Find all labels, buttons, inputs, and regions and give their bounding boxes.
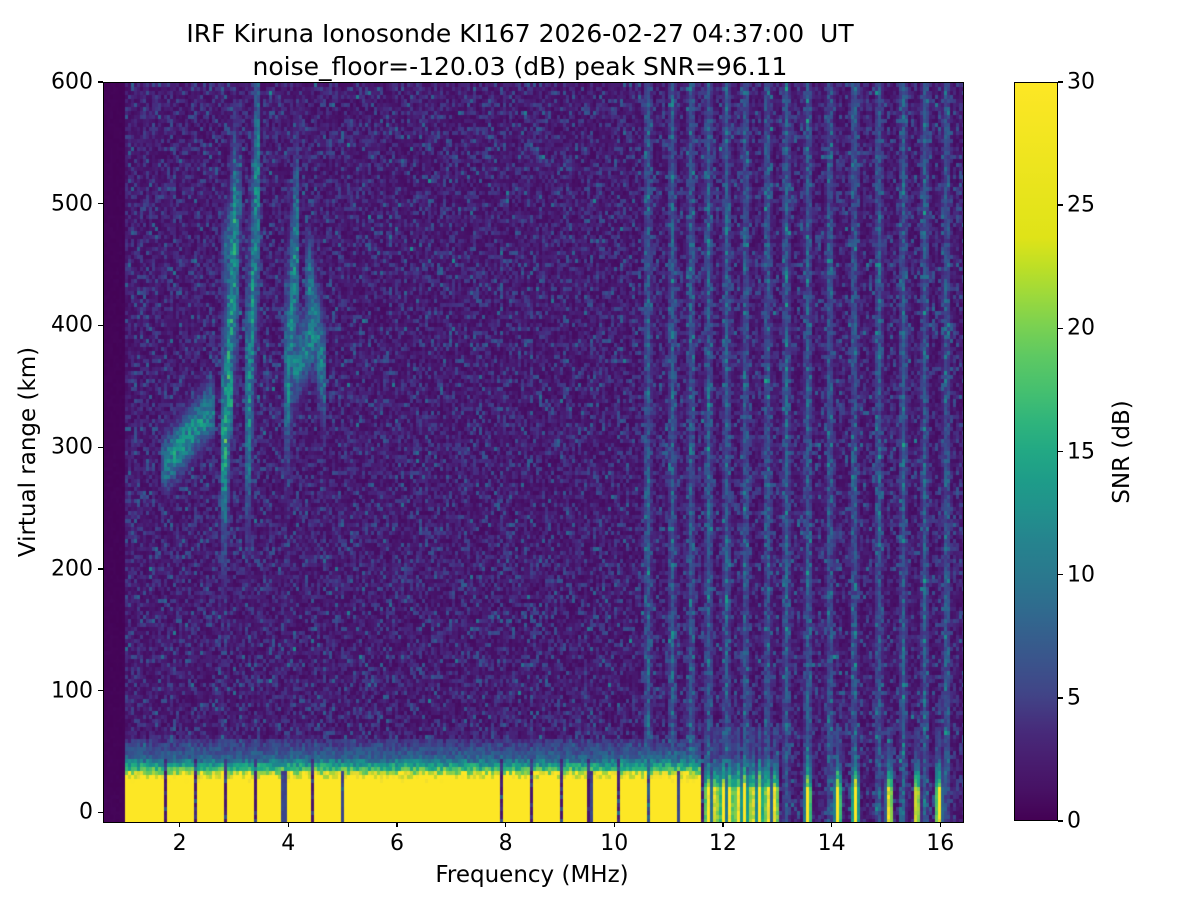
colorbar-tick-label: 15 (1067, 439, 1095, 464)
x-tick-label: 12 (709, 831, 737, 856)
y-tick-mark (98, 690, 103, 691)
colorbar-tick-label: 5 (1067, 685, 1081, 710)
x-tick-mark (614, 822, 615, 827)
title-line-2: noise_floor=-120.03 (dB) peak SNR=96.11 (0, 51, 1040, 84)
title-line-1: IRF Kiruna Ionosonde KI167 2026-02-27 04… (0, 18, 1040, 51)
x-tick-mark (831, 822, 832, 827)
y-tick-label: 400 (30, 313, 93, 338)
y-tick-mark (98, 447, 103, 448)
colorbar-tick-mark (1058, 574, 1063, 575)
ionogram-heatmap[interactable] (104, 83, 963, 822)
colorbar-tick-mark (1058, 328, 1063, 329)
x-tick-mark (396, 822, 397, 827)
colorbar-tick-label: 25 (1067, 193, 1095, 218)
colorbar-tick-mark (1058, 697, 1063, 698)
y-tick-label: 500 (30, 191, 93, 216)
x-tick-label: 4 (281, 831, 295, 856)
x-tick-label: 14 (818, 831, 846, 856)
colorbar-tick-label: 30 (1067, 70, 1095, 95)
colorbar-tick-label: 10 (1067, 562, 1095, 587)
y-tick-label: 200 (30, 556, 93, 581)
y-tick-mark (98, 325, 103, 326)
x-tick-label: 2 (173, 831, 187, 856)
ionogram-figure: IRF Kiruna Ionosonde KI167 2026-02-27 04… (0, 0, 1200, 900)
y-tick-label: 0 (30, 800, 93, 825)
x-tick-mark (505, 822, 506, 827)
colorbar-tick-mark (1058, 81, 1063, 82)
y-axis-label: Virtual range (km) (15, 347, 41, 557)
colorbar[interactable] (1014, 82, 1058, 821)
y-tick-label: 100 (30, 678, 93, 703)
colorbar-tick-mark (1058, 820, 1063, 821)
y-tick-mark (98, 203, 103, 204)
x-tick-label: 10 (600, 831, 628, 856)
figure-title: IRF Kiruna Ionosonde KI167 2026-02-27 04… (0, 18, 1040, 83)
colorbar-tick-mark (1058, 204, 1063, 205)
y-tick-mark (98, 812, 103, 813)
colorbar-label: SNR (dB) (1109, 400, 1135, 503)
x-axis-label: Frequency (MHz) (435, 862, 628, 888)
x-tick-mark (288, 822, 289, 827)
y-tick-label: 600 (30, 70, 93, 95)
colorbar-gradient (1014, 82, 1058, 821)
colorbar-tick-label: 0 (1067, 809, 1081, 834)
x-tick-mark (179, 822, 180, 827)
y-tick-mark (98, 568, 103, 569)
y-tick-mark (98, 81, 103, 82)
plot-area[interactable] (103, 82, 964, 823)
x-tick-mark (722, 822, 723, 827)
x-tick-label: 6 (390, 831, 404, 856)
x-tick-label: 16 (926, 831, 954, 856)
colorbar-tick-label: 20 (1067, 316, 1095, 341)
colorbar-tick-mark (1058, 451, 1063, 452)
x-tick-mark (940, 822, 941, 827)
x-tick-label: 8 (499, 831, 513, 856)
